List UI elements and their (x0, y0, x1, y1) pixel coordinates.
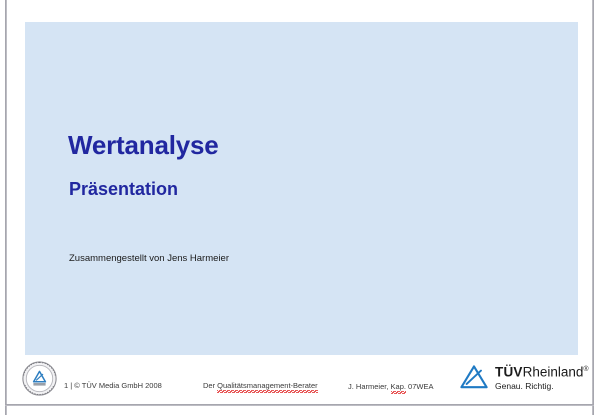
tuv-rheinland-logo: TÜVRheinland® Genau. Richtig. (459, 362, 589, 396)
footer-series-name: Qualitätsmanagement-Berater (217, 381, 317, 390)
slide-subtitle: Präsentation (69, 179, 178, 200)
pane-edge-right (592, 0, 594, 415)
footer-chapter: J. Harmeier, Kap. 07WEA (348, 382, 433, 391)
tuv-triangle-icon (459, 364, 489, 390)
pane-edge-bottom (5, 404, 594, 406)
slide-byline: Zusammengestellt von Jens Harmeier (69, 253, 229, 264)
slide-content-panel: Wertanalyse Präsentation Zusammengestell… (25, 22, 578, 355)
registered-trademark-icon: ® (583, 366, 588, 373)
footer-chapter-author: J. Harmeier, (348, 382, 391, 391)
certification-seal-icon (22, 361, 57, 396)
brand-wordmark: TÜVRheinland® (495, 362, 589, 380)
presentation-slide: Wertanalyse Präsentation Zusammengestell… (7, 0, 592, 404)
footer-series-prefix: Der (203, 381, 217, 390)
page-title: Wertanalyse (68, 130, 219, 161)
brand-name-rheinland: Rheinland (523, 365, 584, 380)
brand-name-tuv: TÜV (495, 365, 523, 380)
brand-tagline: Genau. Richtig. (495, 381, 589, 392)
document-pane: Wertanalyse Präsentation Zusammengestell… (0, 0, 600, 415)
footer-copyright: 1 | © TÜV Media GmbH 2008 (64, 381, 162, 390)
footer-series: Der Qualitätsmanagement-Berater (203, 381, 318, 390)
footer-chapter-code: 07WEA (406, 382, 434, 391)
slide-footer: 1 | © TÜV Media GmbH 2008 Der Qualitätsm… (7, 356, 592, 404)
footer-chapter-abbrev: Kap. (391, 382, 406, 391)
